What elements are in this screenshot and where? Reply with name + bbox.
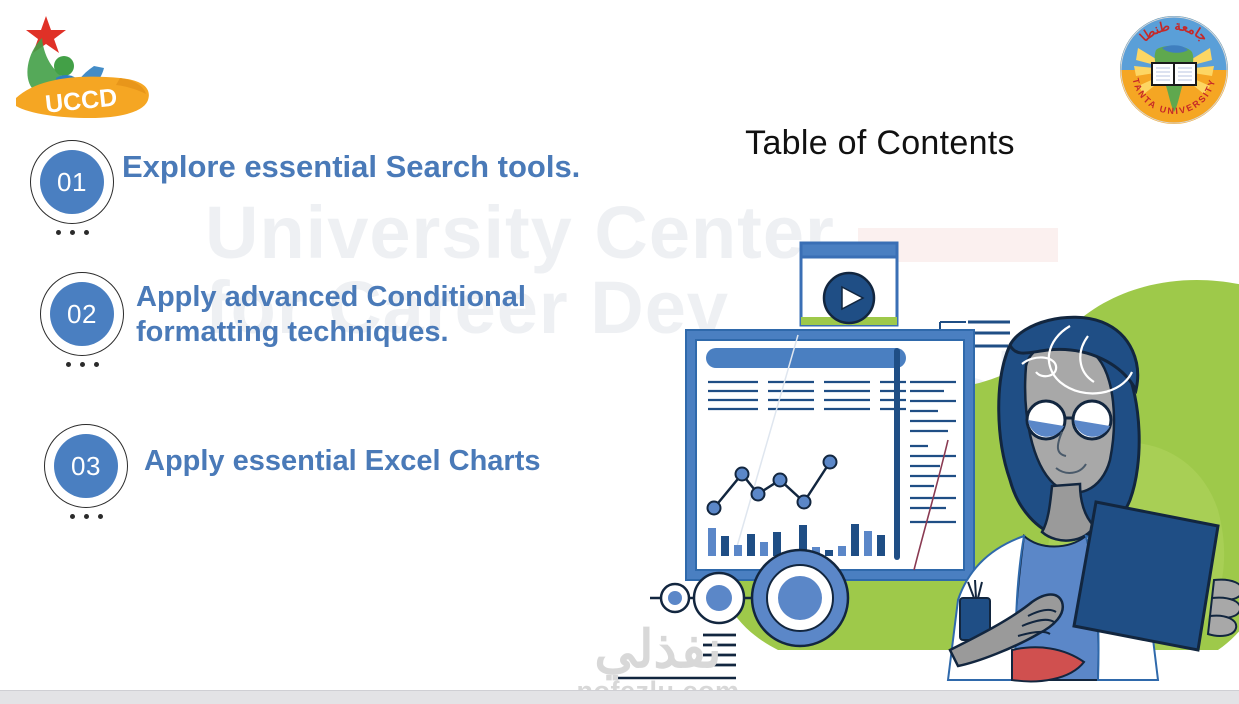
star-icon bbox=[26, 16, 66, 53]
tanta-university-logo: جامعة طنطا TANTA UNIVERSITY bbox=[1118, 14, 1230, 126]
target-caption-lines bbox=[703, 635, 736, 665]
toc-item-03[interactable]: 03 Apply essential Excel Charts bbox=[44, 424, 541, 508]
toc-item-02[interactable]: 02 Apply advanced Conditional formatting… bbox=[40, 272, 602, 356]
toc-number-badge-02: 02 bbox=[40, 272, 124, 356]
uccd-logo-graphic: UCCD bbox=[8, 8, 158, 126]
toc-number-badge-01: 01 bbox=[30, 140, 114, 224]
slide-canvas: University Center for Career Dev الجامعي… bbox=[0, 0, 1239, 690]
toc-badge-column-01: 01 bbox=[30, 140, 122, 224]
slide-bottom-bar bbox=[0, 690, 1239, 704]
data-analyst-dashboard-illustration bbox=[618, 150, 1239, 690]
toc-label-03: Apply essential Excel Charts bbox=[136, 424, 541, 479]
toc-number-badge-03: 03 bbox=[44, 424, 128, 508]
video-player-window bbox=[801, 243, 897, 325]
uccd-logo: UCCD bbox=[8, 8, 158, 126]
toc-item-01[interactable]: 01 Explore essential Search tools. bbox=[30, 140, 580, 224]
toc-dots-01 bbox=[30, 230, 114, 235]
tanta-logo-graphic: جامعة طنطا TANTA UNIVERSITY bbox=[1118, 14, 1230, 126]
toc-dots-03 bbox=[44, 514, 128, 519]
toc-label-01: Explore essential Search tools. bbox=[122, 140, 580, 186]
dashboard-window bbox=[686, 330, 974, 580]
toc-dots-02 bbox=[40, 362, 124, 367]
toc-badge-column-02: 02 bbox=[40, 272, 132, 356]
toc-number-03: 03 bbox=[54, 434, 118, 498]
toc-number-02: 02 bbox=[50, 282, 114, 346]
tablet-device bbox=[1074, 502, 1218, 650]
toc-label-02: Apply advanced Conditional formatting te… bbox=[132, 272, 602, 351]
toc-badge-column-03: 03 bbox=[44, 424, 136, 508]
page-title: Table of Contents bbox=[700, 124, 1060, 163]
illustration-graphic bbox=[618, 150, 1239, 690]
toc-number-01: 01 bbox=[40, 150, 104, 214]
